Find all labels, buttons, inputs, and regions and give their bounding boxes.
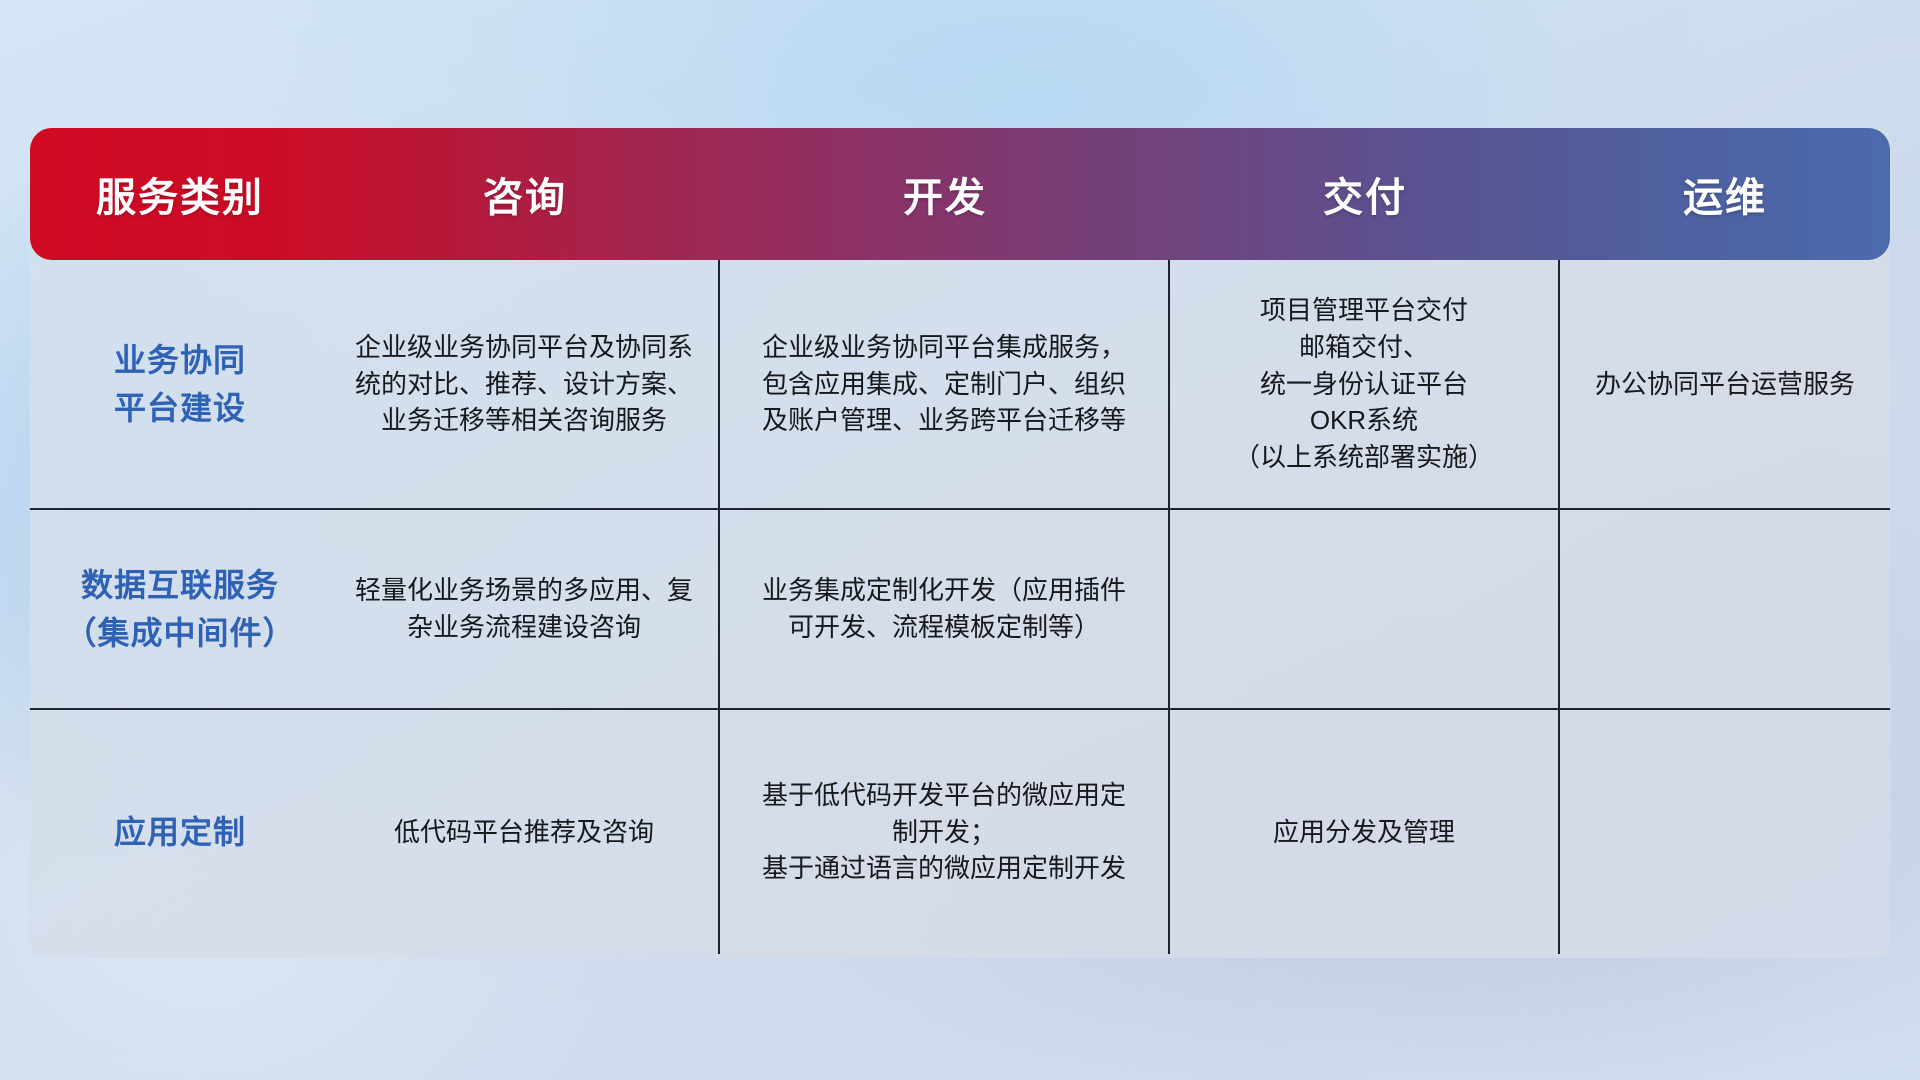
cell-consulting: 轻量化业务场景的多应用、复 杂业务流程建设咨询 (330, 510, 720, 708)
cell-consulting: 低代码平台推荐及咨询 (330, 710, 720, 954)
cell-consulting: 企业级业务协同平台及协同系 统的对比、推荐、设计方案、 业务迁移等相关咨询服务 (330, 260, 720, 508)
column-header-development: 开发 (720, 165, 1170, 223)
table-header-row: 服务类别 咨询 开发 交付 运维 (30, 128, 1890, 260)
table-body: 业务协同 平台建设 企业级业务协同平台及协同系 统的对比、推荐、设计方案、 业务… (30, 260, 1890, 954)
column-header-delivery: 交付 (1170, 165, 1560, 223)
cell-operations: 办公协同平台运营服务 (1560, 260, 1890, 508)
column-header-operations: 运维 (1560, 165, 1890, 223)
table-row: 应用定制 低代码平台推荐及咨询 基于低代码开发平台的微应用定 制开发； 基于通过… (30, 710, 1890, 954)
cell-delivery: 应用分发及管理 (1170, 710, 1560, 954)
row-category-label: 数据互联服务 （集成中间件） (30, 510, 330, 708)
cell-development: 业务集成定制化开发（应用插件 可开发、流程模板定制等） (720, 510, 1170, 708)
table-row: 数据互联服务 （集成中间件） 轻量化业务场景的多应用、复 杂业务流程建设咨询 业… (30, 510, 1890, 710)
cell-delivery (1170, 510, 1560, 708)
cell-delivery: 项目管理平台交付 邮箱交付、 统一身份认证平台 OKR系统 （以上系统部署实施） (1170, 260, 1560, 508)
column-header-consulting: 咨询 (330, 165, 720, 223)
service-matrix-table: 服务类别 咨询 开发 交付 运维 业务协同 平台建设 企业级业务协同平台及协同系… (30, 128, 1890, 958)
cell-operations (1560, 710, 1890, 954)
row-category-label: 应用定制 (30, 710, 330, 954)
cell-development: 基于低代码开发平台的微应用定 制开发； 基于通过语言的微应用定制开发 (720, 710, 1170, 954)
cell-operations (1560, 510, 1890, 708)
table-row: 业务协同 平台建设 企业级业务协同平台及协同系 统的对比、推荐、设计方案、 业务… (30, 260, 1890, 510)
row-category-label: 业务协同 平台建设 (30, 260, 330, 508)
cell-development: 企业级业务协同平台集成服务， 包含应用集成、定制门户、组织 及账户管理、业务跨平… (720, 260, 1170, 508)
column-header-service-category: 服务类别 (30, 165, 330, 223)
